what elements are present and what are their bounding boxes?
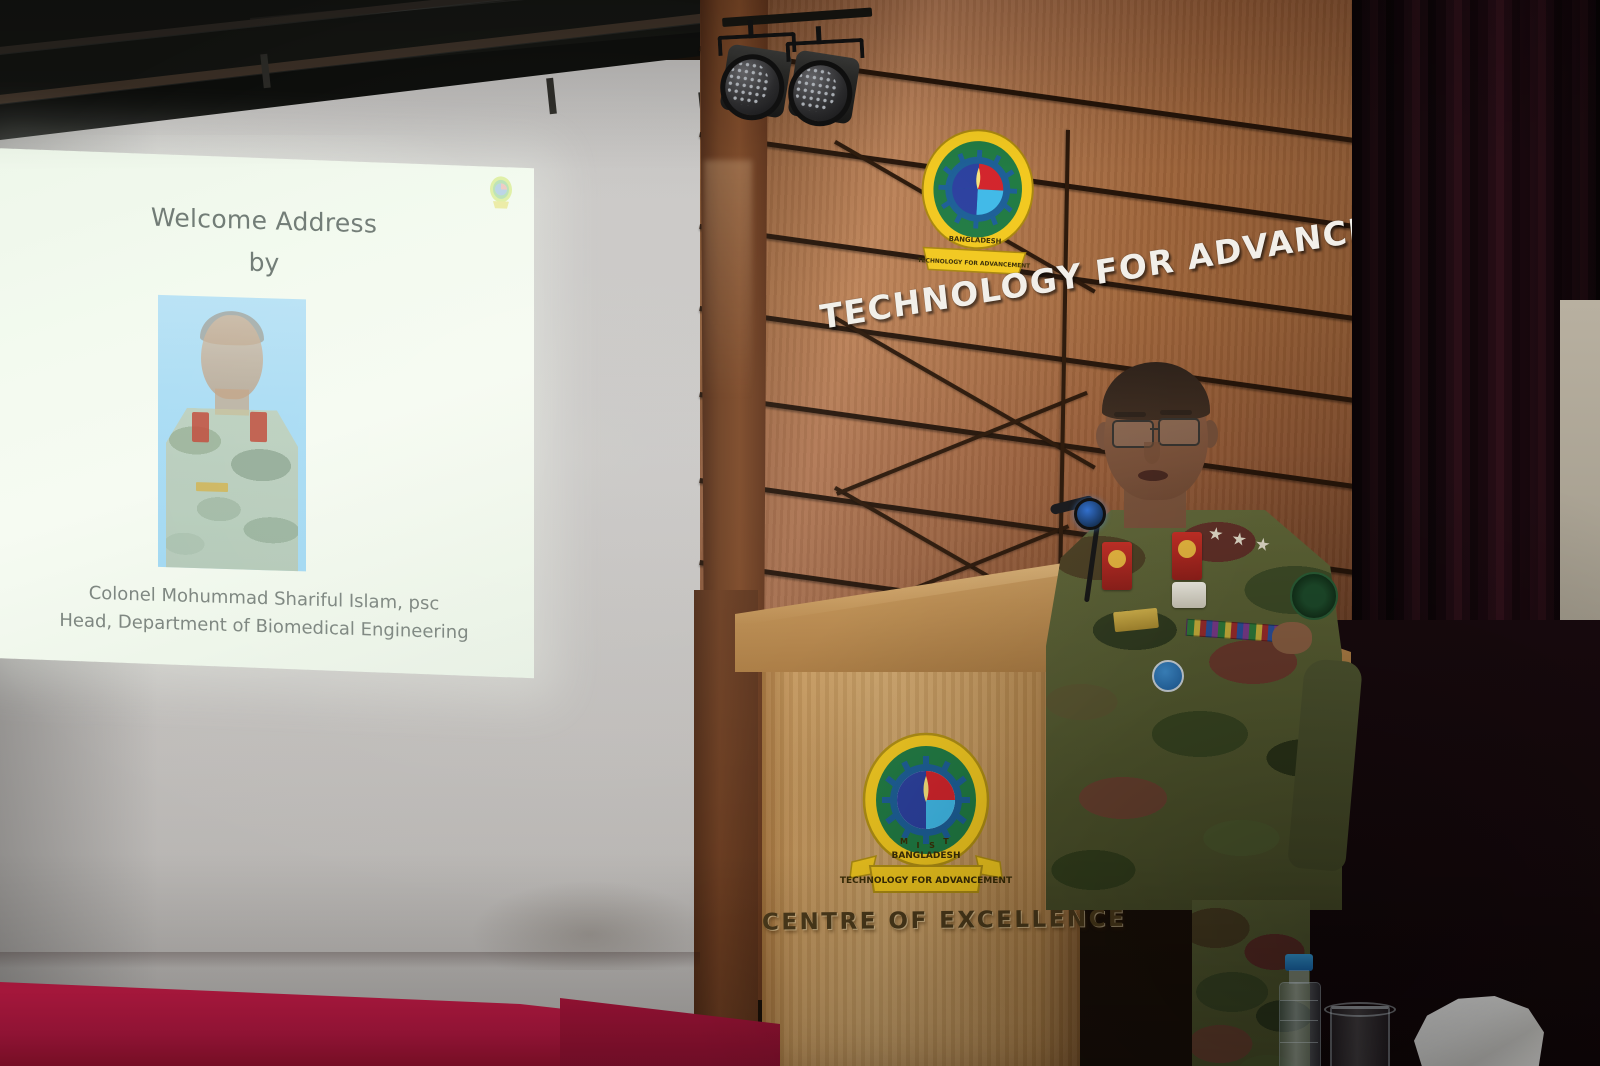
podium-centre-of-excellence-text: CENTRE OF EXCELLENCE [762,906,1080,935]
projection-slide: Welcome Address by Colonel Mohummad Shar… [0,148,534,678]
slide-by-label: by [0,240,534,286]
bottle-rib-2 [1280,1020,1318,1021]
officer-eyebrow-right [1160,410,1192,415]
officer-name-badge [1172,582,1206,608]
svg-text:BANGLADESH: BANGLADESH [891,851,960,861]
gooseneck-microphone[interactable] [1074,498,1106,530]
bottle-cap[interactable] [1285,954,1313,971]
portrait-rank-left [192,412,209,443]
svg-text:S: S [929,841,935,850]
officer-nose [1144,442,1160,464]
auditorium-scene: BANGLADESH TECHNOLOGY FOR ADVANCEMENT TE… [0,0,1600,1066]
svg-text:TECHNOLOGY FOR ADVANCEMENT: TECHNOLOGY FOR ADVANCEMENT [840,876,1013,886]
bottle-body [1279,982,1321,1066]
portrait-head [201,314,263,400]
eyeglasses-bridge [1150,428,1160,430]
slide-title: Welcome Address [0,198,534,244]
portrait-rank-right [250,412,267,443]
mist-crest-podium: BANGLADESH M I S T TECHNOLOGY FOR ADVANC… [836,728,1016,904]
portrait-name-badge [196,482,228,492]
svg-text:T: T [943,837,949,846]
unit-shoulder-patch [1290,572,1338,620]
speaker-portrait-photo [158,295,306,572]
rank-star-3 [1255,537,1271,553]
water-bottle[interactable] [1276,954,1322,1066]
par-can-light-right [784,38,867,138]
rank-star-2 [1231,531,1247,547]
pillar-light-sheen [704,160,752,400]
officer-eyebrow-left [1114,412,1146,417]
mist-crest-wall: BANGLADESH TECHNOLOGY FOR ADVANCEMENT [914,125,1040,281]
rank-star-1 [1208,526,1224,542]
floor-wall-shadow [0,952,700,968]
svg-text:I: I [917,841,920,850]
officer-hand [1272,622,1312,654]
eyeglasses-lens-right [1158,418,1200,446]
drinking-glass-rim [1324,1002,1396,1017]
portrait-uniform [166,407,298,571]
bottle-rib-3 [1280,1042,1318,1043]
slide-mist-logo-icon [488,175,514,210]
rank-insignia-left [1102,542,1132,590]
officer-mouth [1138,470,1168,481]
blue-insignia-disc [1152,660,1184,692]
bottle-rib-1 [1280,1000,1318,1001]
svg-text:M: M [900,837,908,846]
rank-insignia-right [1172,532,1202,580]
